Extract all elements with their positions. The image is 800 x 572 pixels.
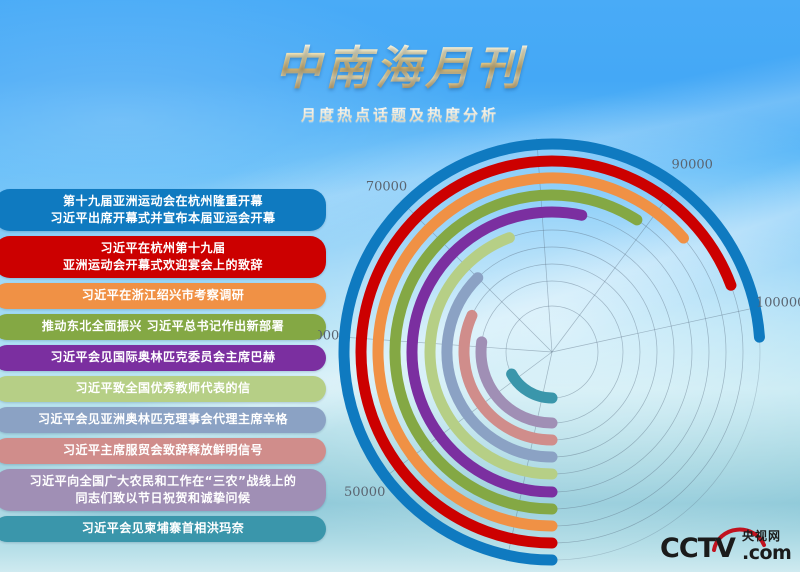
- radial-bar-chart: 400005000060000700008000090000100000: [318, 126, 800, 572]
- legend-item-8[interactable]: 习近平向全国广大农民和工作在“三农”战线上的同志们致以节日祝贺和诚挚问候: [0, 469, 326, 511]
- cctv-wordmark: CCTV: [660, 533, 735, 564]
- legend-item-label: 习近平主席服贸会致辞释放鲜明信号: [63, 442, 263, 459]
- radial-bar-9[interactable]: [512, 374, 552, 398]
- legend-item-label: 推动东北全面振兴 习近平总书记作出新部署: [42, 318, 284, 335]
- legend-item-2[interactable]: 习近平在浙江绍兴市考察调研: [0, 283, 326, 309]
- axis-tick-label: 60000: [318, 328, 339, 343]
- legend-item-7[interactable]: 习近平主席服贸会致辞释放鲜明信号: [0, 438, 326, 464]
- legend-item-label: 习近平会见柬埔寨首相洪玛奈: [82, 520, 245, 537]
- legend-item-5[interactable]: 习近平致全国优秀教师代表的信: [0, 376, 326, 402]
- legend-item-label: 习近平致全国优秀教师代表的信: [75, 380, 250, 397]
- legend-item-label: 习近平会见国际奥林匹克委员会主席巴赫: [50, 349, 275, 366]
- legend-item-4[interactable]: 习近平会见国际奥林匹克委员会主席巴赫: [0, 345, 326, 371]
- legend-item-label: 习近平向全国广大农民和工作在“三农”战线上的同志们致以节日祝贺和诚挚问候: [30, 473, 297, 508]
- axis-tick-label: 90000: [672, 158, 713, 173]
- legend-item-1[interactable]: 习近平在杭州第十九届亚洲运动会开幕式欢迎宴会上的致辞: [0, 236, 326, 278]
- header: 中南海月刊 月度热点话题及热度分析: [0, 44, 800, 125]
- cctv-domain: .com: [742, 542, 791, 564]
- legend-item-3[interactable]: 推动东北全面振兴 习近平总书记作出新部署: [0, 314, 326, 340]
- cctv-logo: CCTV 央视网 .com: [660, 521, 792, 565]
- page-title: 中南海月刊: [0, 44, 800, 92]
- legend-item-label: 习近平在浙江绍兴市考察调研: [82, 287, 245, 304]
- grid-spoke: [537, 139, 552, 352]
- legend-item-label: 第十九届亚洲运动会在杭州隆重开幕习近平出席开幕式并宣布本届亚运会开幕: [50, 193, 275, 228]
- axis-tick-label: 70000: [366, 180, 407, 195]
- legend-item-label: 习近平在杭州第十九届亚洲运动会开幕式欢迎宴会上的致辞: [63, 240, 263, 275]
- radial-bar-4[interactable]: [412, 212, 582, 492]
- legend-item-0[interactable]: 第十九届亚洲运动会在杭州隆重开幕习近平出席开幕式并宣布本届亚运会开幕: [0, 189, 326, 231]
- page-subtitle: 月度热点话题及热度分析: [0, 104, 800, 125]
- axis-tick-label: 50000: [344, 485, 385, 500]
- axis-tick-label: 80000: [515, 126, 556, 127]
- legend-item-6[interactable]: 习近平会见亚洲奥林匹克理事会代理主席辛格: [0, 407, 326, 433]
- legend-item-9[interactable]: 习近平会见柬埔寨首相洪玛奈: [0, 516, 326, 542]
- legend-list: 第十九届亚洲运动会在杭州隆重开幕习近平出席开幕式并宣布本届亚运会开幕习近平在杭州…: [0, 189, 326, 547]
- infographic-canvas: 中南海月刊 月度热点话题及热度分析 第十九届亚洲运动会在杭州隆重开幕习近平出席开…: [0, 0, 800, 572]
- axis-tick-label: 100000: [756, 295, 800, 310]
- legend-item-label: 习近平会见亚洲奥林匹克理事会代理主席辛格: [38, 411, 288, 428]
